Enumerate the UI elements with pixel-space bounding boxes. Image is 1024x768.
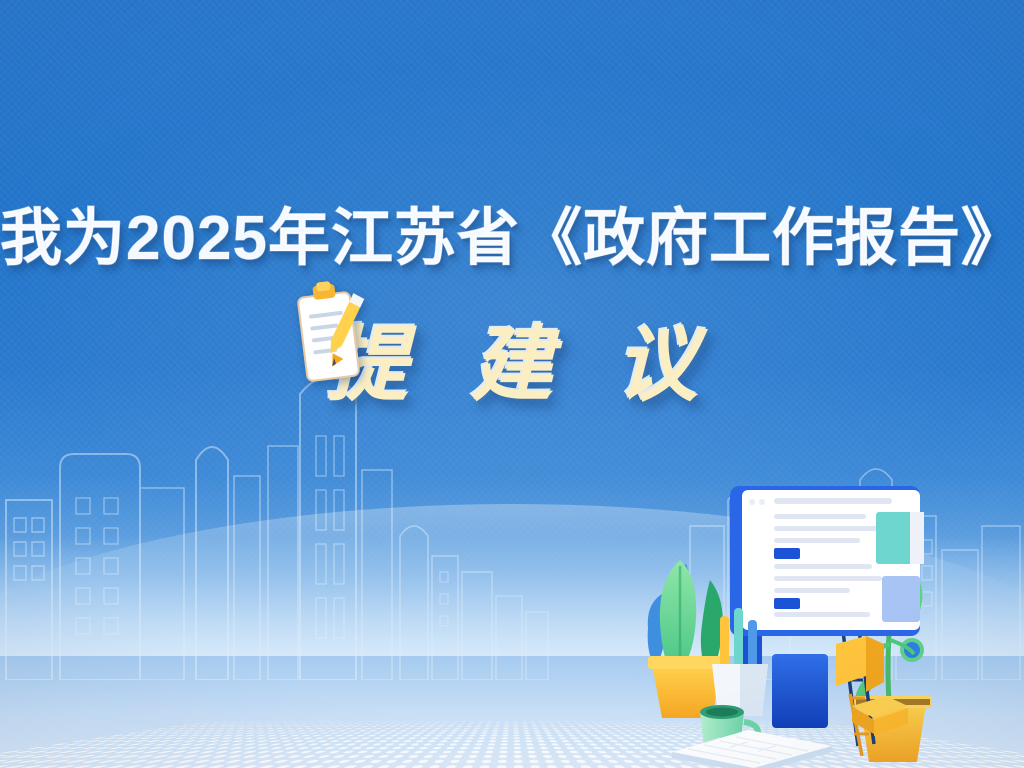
banner-canvas: 我为2025年江苏省《政府工作报告》 (0, 0, 1024, 768)
desk-scene-illustration (624, 468, 1024, 768)
subtitle-row: 提 建 议 (0, 298, 1024, 408)
screen-highlight-bar (774, 598, 800, 609)
leaf-plant-icon (648, 560, 726, 718)
keyboard-icon (672, 730, 832, 768)
yellow-blocks-icon (836, 636, 908, 736)
screen-image-block-blue (882, 576, 920, 622)
banner-title-line1: 我为2025年江苏省《政府工作报告》 (0, 206, 1024, 272)
screen-highlight-bar (774, 548, 800, 559)
headline-block: 我为2025年江苏省《政府工作报告》 (0, 206, 1024, 408)
clipboard-icon (290, 276, 376, 388)
